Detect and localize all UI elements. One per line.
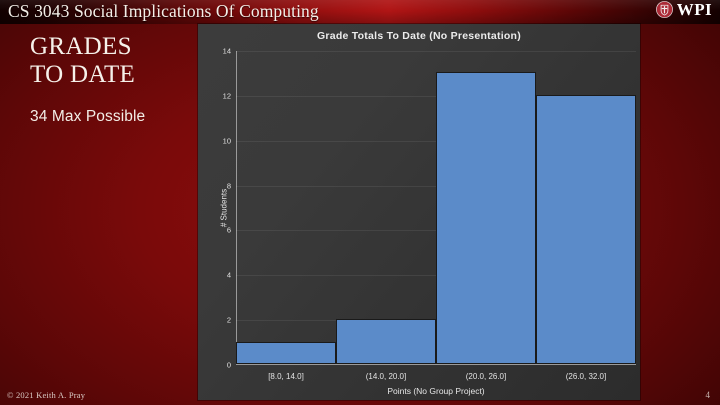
page-title: CS 3043 Social Implications Of Computing (8, 1, 319, 22)
y-tick-label: 4 (227, 271, 231, 280)
wpi-logo: WPI (656, 1, 712, 18)
x-tick-label: (26.0, 32.0] (566, 372, 606, 381)
y-tick-label: 2 (227, 316, 231, 325)
x-axis-line (236, 364, 636, 365)
bar (336, 319, 436, 364)
y-tick-label: 10 (223, 136, 231, 145)
y-tick-label: 14 (223, 47, 231, 56)
bar (536, 95, 636, 364)
gridline (236, 51, 636, 52)
y-tick-label: 6 (227, 226, 231, 235)
x-axis-label: Points (No Group Project) (236, 386, 636, 396)
copyright-notice: © 2021 Keith A. Pray (7, 390, 85, 400)
headline: GRADES TO DATE (30, 33, 195, 89)
y-tick-label: 0 (227, 361, 231, 370)
chart-title: Grade Totals To Date (No Presentation) (198, 30, 640, 42)
headline-line-1: GRADES (30, 33, 195, 61)
y-tick-label: 12 (223, 91, 231, 100)
slide-canvas: CS 3043 Social Implications Of Computing… (0, 0, 720, 405)
wpi-crest-icon (656, 1, 673, 18)
bar (436, 72, 536, 364)
page-number: 4 (706, 390, 711, 400)
x-tick-label: (14.0, 20.0] (366, 372, 406, 381)
x-tick-label: (20.0, 26.0] (466, 372, 506, 381)
headline-line-2: TO DATE (30, 61, 195, 89)
y-axis-line (236, 51, 237, 365)
x-tick-label: [8.0, 14.0] (268, 372, 304, 381)
y-axis-label: # Students (220, 189, 229, 227)
wpi-wordmark: WPI (677, 1, 712, 18)
chart-plot-area: 02468101214 [8.0, 14.0](14.0, 20.0](20.0… (236, 51, 636, 365)
bar (236, 342, 336, 364)
subheadline: 34 Max Possible (30, 108, 200, 126)
chart-panel: Grade Totals To Date (No Presentation) 0… (198, 24, 640, 400)
